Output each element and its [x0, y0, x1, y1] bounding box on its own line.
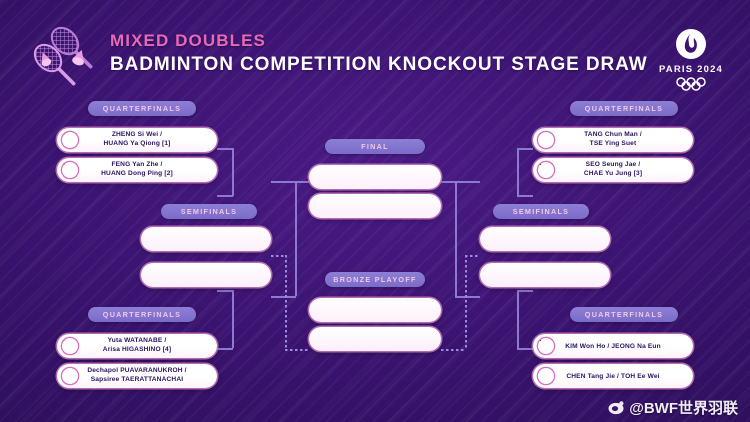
match-slot-bronze-1[interactable]	[309, 298, 441, 322]
paris-2024-logo: PARIS 2024	[648, 24, 734, 92]
player-names: Yuta WATANABE / Arisa HIGASHINO [4]	[57, 337, 217, 354]
match-slot-qf-top-right-2[interactable]: SEO Seung Jae / CHAE Yu Jung [3]	[533, 158, 693, 182]
label-semifinals-right: SEMIFINALS	[493, 204, 589, 219]
label-quarterfinals-top-left: QUARTERFINALS	[88, 101, 196, 116]
match-slot-qf-bottom-right-2[interactable]: CHEN Tang Jie / TOH Ee Wei	[533, 364, 693, 388]
match-slot-sf-left-2[interactable]	[141, 263, 271, 287]
match-slot-qf-top-left-2[interactable]: FENG Yan Zhe / HUANG Dong Ping [2]	[57, 158, 217, 182]
japan-flag-icon	[62, 338, 78, 354]
match-slot-final-2[interactable]	[309, 194, 441, 218]
match-slot-qf-bottom-right-1[interactable]: KIM Won Ho / JEONG Na Eun	[533, 334, 693, 358]
page-subtitle: MIXED DOUBLES	[110, 30, 648, 51]
player-names: SEO Seung Jae / CHAE Yu Jung [3]	[533, 161, 693, 178]
korea-flag-icon	[538, 338, 554, 354]
label-semifinals-left: SEMIFINALS	[161, 204, 257, 219]
match-slot-qf-top-right-1[interactable]: TANG Chun Man / TSE Ying Suet	[533, 128, 693, 152]
hong-kong-flag-icon	[538, 132, 554, 148]
match-slot-sf-right-1[interactable]	[480, 227, 610, 251]
player-names: CHEN Tang Jie / TOH Ee Wei	[533, 372, 693, 381]
label-quarterfinals-bottom-left: QUARTERFINALS	[88, 307, 196, 322]
malaysia-flag-icon	[538, 368, 554, 384]
label-final: FINAL	[325, 139, 425, 154]
player-names: FENG Yan Zhe / HUANG Dong Ping [2]	[57, 161, 217, 178]
watermark: @BWF世界羽联	[608, 397, 738, 418]
player-names: ZHENG Si Wei / HUANG Ya Qiong [1]	[57, 131, 217, 148]
match-slot-sf-left-1[interactable]	[141, 227, 271, 251]
svg-text:PARIS 2024: PARIS 2024	[659, 64, 723, 75]
crossed-rackets-icon	[26, 22, 104, 94]
match-slot-bronze-2[interactable]	[309, 327, 441, 351]
label-quarterfinals-bottom-right: QUARTERFINALS	[570, 307, 678, 322]
china-flag-icon	[62, 132, 78, 148]
player-names: TANG Chun Man / TSE Ying Suet	[533, 131, 693, 148]
match-slot-qf-bottom-left-2[interactable]: Dechapol PUAVARANUKROH / Sapsiree TAERAT…	[57, 364, 217, 388]
player-names: KIM Won Ho / JEONG Na Eun	[533, 342, 693, 351]
label-quarterfinals-top-right: QUARTERFINALS	[570, 101, 678, 116]
china-flag-icon	[62, 162, 78, 178]
label-bronze-playoff: BRONZE PLAYOFF	[325, 272, 425, 287]
korea-flag-icon	[538, 162, 554, 178]
weibo-icon	[608, 399, 625, 416]
match-slot-final-1[interactable]	[309, 165, 441, 189]
player-names: Dechapol PUAVARANUKROH / Sapsiree TAERAT…	[57, 367, 217, 384]
title-block: MIXED DOUBLES BADMINTON COMPETITION KNOC…	[110, 30, 648, 77]
watermark-text: @BWF世界羽联	[629, 397, 738, 418]
match-slot-sf-right-2[interactable]	[480, 263, 610, 287]
page-title: BADMINTON COMPETITION KNOCKOUT STAGE DRA…	[110, 53, 648, 77]
thailand-flag-icon	[62, 368, 78, 384]
bracket-page: MIXED DOUBLES BADMINTON COMPETITION KNOC…	[0, 0, 750, 422]
header: MIXED DOUBLES BADMINTON COMPETITION KNOC…	[0, 0, 750, 95]
match-slot-qf-bottom-left-1[interactable]: Yuta WATANABE / Arisa HIGASHINO [4]	[57, 334, 217, 358]
match-slot-qf-top-left-1[interactable]: ZHENG Si Wei / HUANG Ya Qiong [1]	[57, 128, 217, 152]
